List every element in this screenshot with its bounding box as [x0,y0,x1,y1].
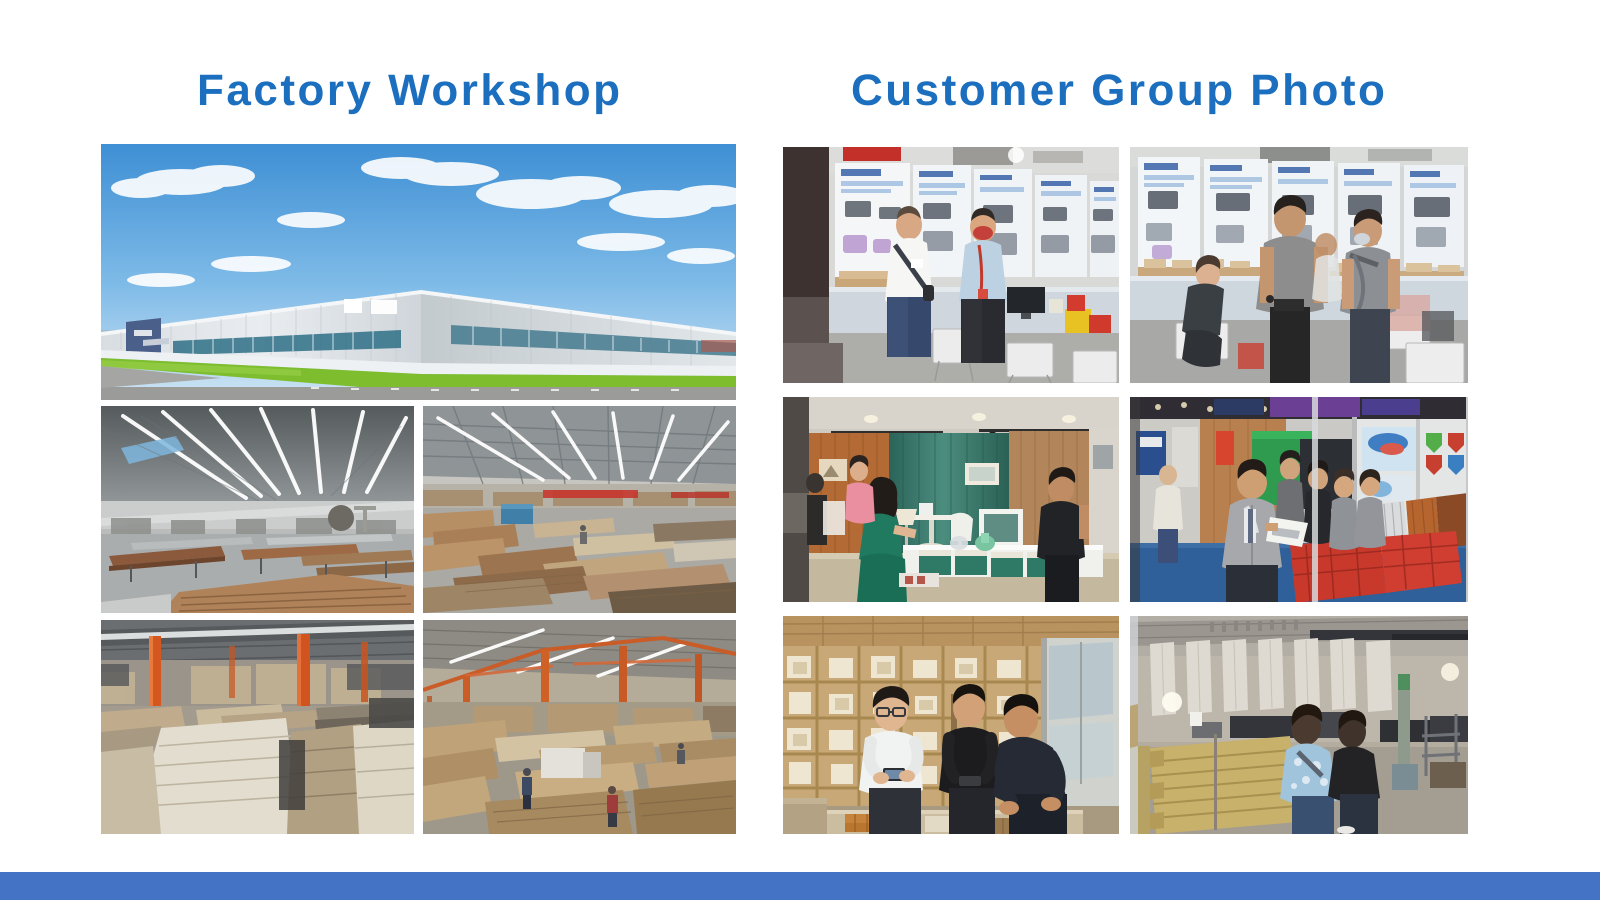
photo-showroom-samples [783,616,1119,834]
photo-factory-visit [1130,616,1468,834]
footer-accent-bar [0,872,1600,900]
photo-factory-exterior [101,144,736,400]
page-title-customer-group-photo: Customer Group Photo [851,66,1387,116]
photo-booth-two-men [783,147,1119,383]
photo-workshop-lines [101,406,414,613]
photo-fair-tiles [1130,397,1468,602]
photo-showroom-green [783,397,1119,602]
photo-workshop-profiles [423,406,736,613]
photo-workshop-stacks [101,620,414,834]
photo-workshop-boards [423,620,736,834]
page-title-factory-workshop: Factory Workshop [197,66,622,116]
slide-canvas: Factory Workshop Customer Group Photo [0,0,1600,900]
photo-booth-visitors [1130,147,1468,383]
